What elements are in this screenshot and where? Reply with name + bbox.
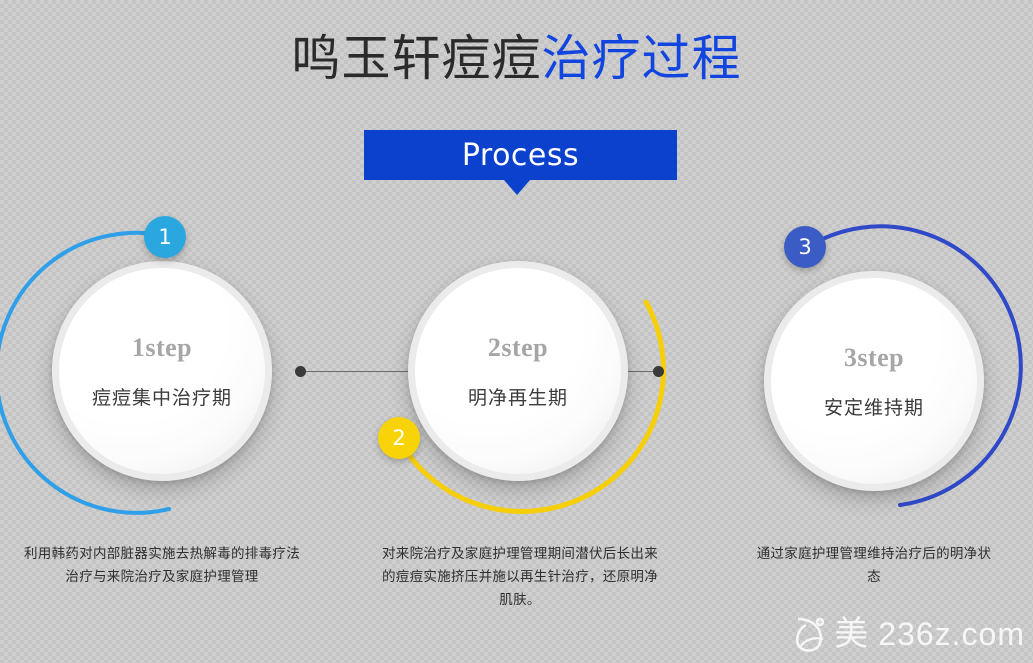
step-3-badge-number: 3 bbox=[798, 235, 811, 259]
step-3-caption: 通过家庭护理管理维持治疗后的明净状态 bbox=[754, 543, 994, 589]
step-1-badge: 1 bbox=[144, 216, 186, 258]
step-1-cn-label: 痘痘集中治疗期 bbox=[92, 383, 232, 410]
diagram-canvas: 鸣玉轩痘痘治疗过程 Process 1step 痘痘集中治疗期 1 利用韩药对内… bbox=[0, 0, 1033, 663]
step-3-cn-label: 安定维持期 bbox=[824, 393, 924, 420]
step-3-en-label: 3step bbox=[844, 343, 904, 373]
step-2-caption: 对来院治疗及家庭护理管理期间潜伏后长出来的痘痘实施挤压并施以再生针治疗，还原明净… bbox=[378, 543, 662, 612]
brand-leaf-icon bbox=[790, 613, 832, 655]
step-3-badge: 3 bbox=[784, 226, 826, 268]
watermark-domain: 236z.com bbox=[878, 618, 1025, 650]
step-2-en-label: 2step bbox=[488, 333, 548, 363]
step-2-cn-label: 明净再生期 bbox=[468, 383, 568, 410]
watermark-mark: 美 bbox=[834, 617, 868, 651]
step-1-caption: 利用韩药对内部脏器实施去热解毒的排毒疗法治疗与来院治疗及家庭护理管理 bbox=[22, 543, 302, 589]
watermark: 美 236z.com bbox=[790, 613, 1025, 655]
connector-dot-1 bbox=[295, 366, 306, 377]
step-1-en-label: 1step bbox=[132, 333, 192, 363]
step-1-circle[interactable]: 1step 痘痘集中治疗期 bbox=[52, 261, 272, 481]
step-3-circle[interactable]: 3step 安定维持期 bbox=[764, 271, 984, 491]
step-1-badge-number: 1 bbox=[158, 225, 171, 249]
connector-dot-2 bbox=[653, 366, 664, 377]
step-2-circle[interactable]: 2step 明净再生期 bbox=[408, 261, 628, 481]
step-2-badge-number: 2 bbox=[392, 426, 405, 450]
step-2-badge: 2 bbox=[378, 417, 420, 459]
